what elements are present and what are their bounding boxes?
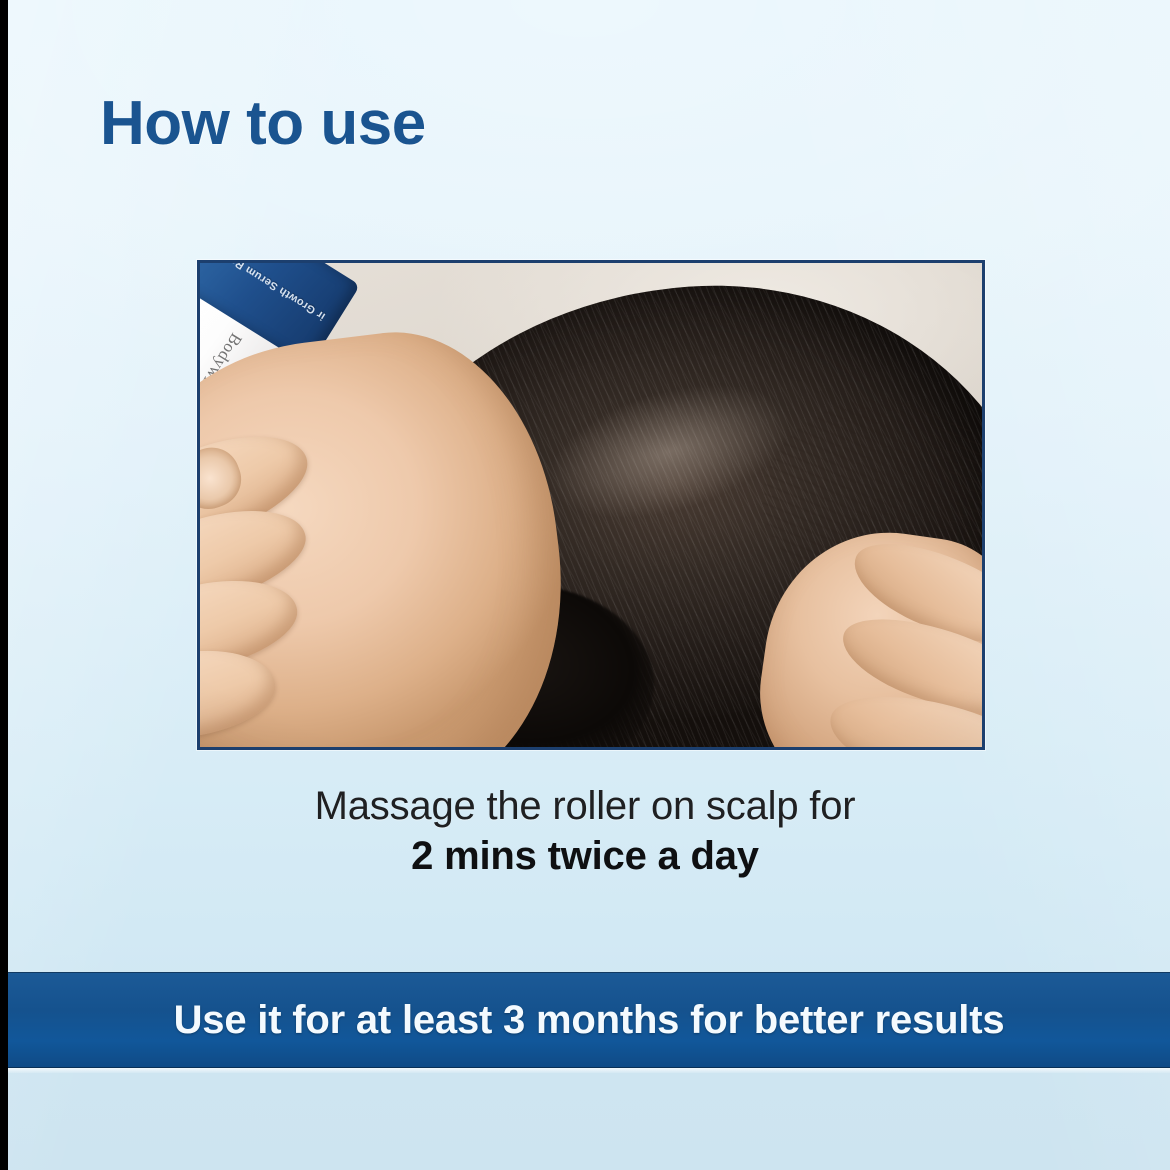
- left-finger: [200, 641, 281, 747]
- page-title: How to use: [100, 88, 426, 159]
- instruction-photo: Bodywise Bodywise ir Growth Serum Roll-o: [200, 263, 982, 747]
- tube-label-text: ir Growth Serum Roll-o: [212, 263, 328, 322]
- letterbox-left-bar: [0, 0, 8, 1170]
- instruction-photo-frame: Bodywise Bodywise ir Growth Serum Roll-o: [197, 260, 985, 750]
- bottom-banner-text: Use it for at least 3 months for better …: [174, 998, 1005, 1043]
- caption-line-1: Massage the roller on scalp for: [0, 784, 1170, 829]
- banner-underline: [8, 1068, 1170, 1073]
- instruction-caption: Massage the roller on scalp for 2 mins t…: [0, 784, 1170, 880]
- caption-line-2: 2 mins twice a day: [0, 833, 1170, 880]
- slide-canvas: How to use Bodywise Bodywise: [0, 0, 1170, 1170]
- bottom-banner: Use it for at least 3 months for better …: [8, 972, 1170, 1068]
